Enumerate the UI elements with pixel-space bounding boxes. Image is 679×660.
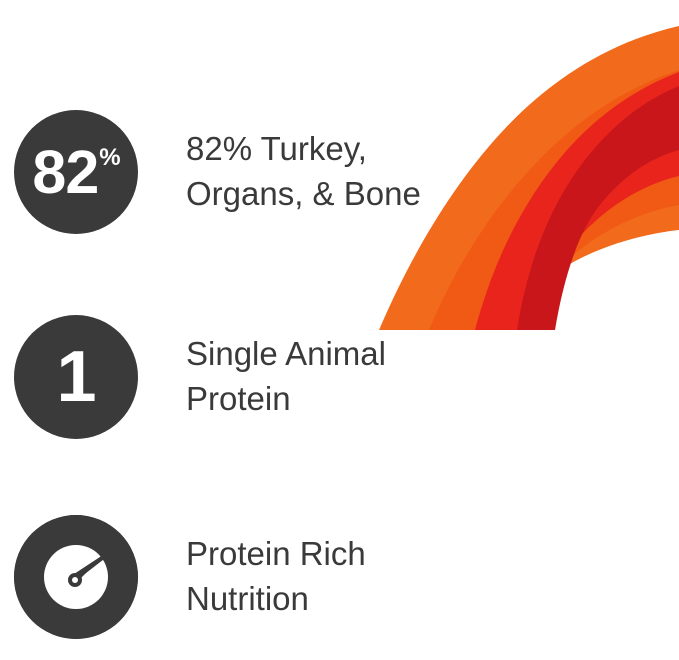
badge-value: 82 [32,142,98,203]
feature-item-single-protein: 1 Single Animal Protein [14,315,574,439]
feature-label-percent: 82% Turkey, Organs, & Bone [186,127,421,216]
product-feature-graphic: 82% 82% Turkey, Organs, & Bone 1 Single … [0,0,679,660]
gauge-meter-icon [14,515,138,639]
badge-value: 1 [56,341,95,413]
feature-label-protein-rich: Protein Rich Nutrition [186,532,366,621]
feature-item-protein-rich: Protein Rich Nutrition [14,515,574,639]
badge-superscript: % [99,144,120,172]
number-one-badge-icon: 1 [14,315,138,439]
gauge-meter-glyph [14,515,138,639]
feature-label-single-protein: Single Animal Protein [186,332,386,421]
feature-list: 82% 82% Turkey, Organs, & Bone 1 Single … [0,0,679,660]
percent-badge-icon: 82% [14,110,138,234]
feature-item-percent: 82% 82% Turkey, Organs, & Bone [14,110,574,234]
